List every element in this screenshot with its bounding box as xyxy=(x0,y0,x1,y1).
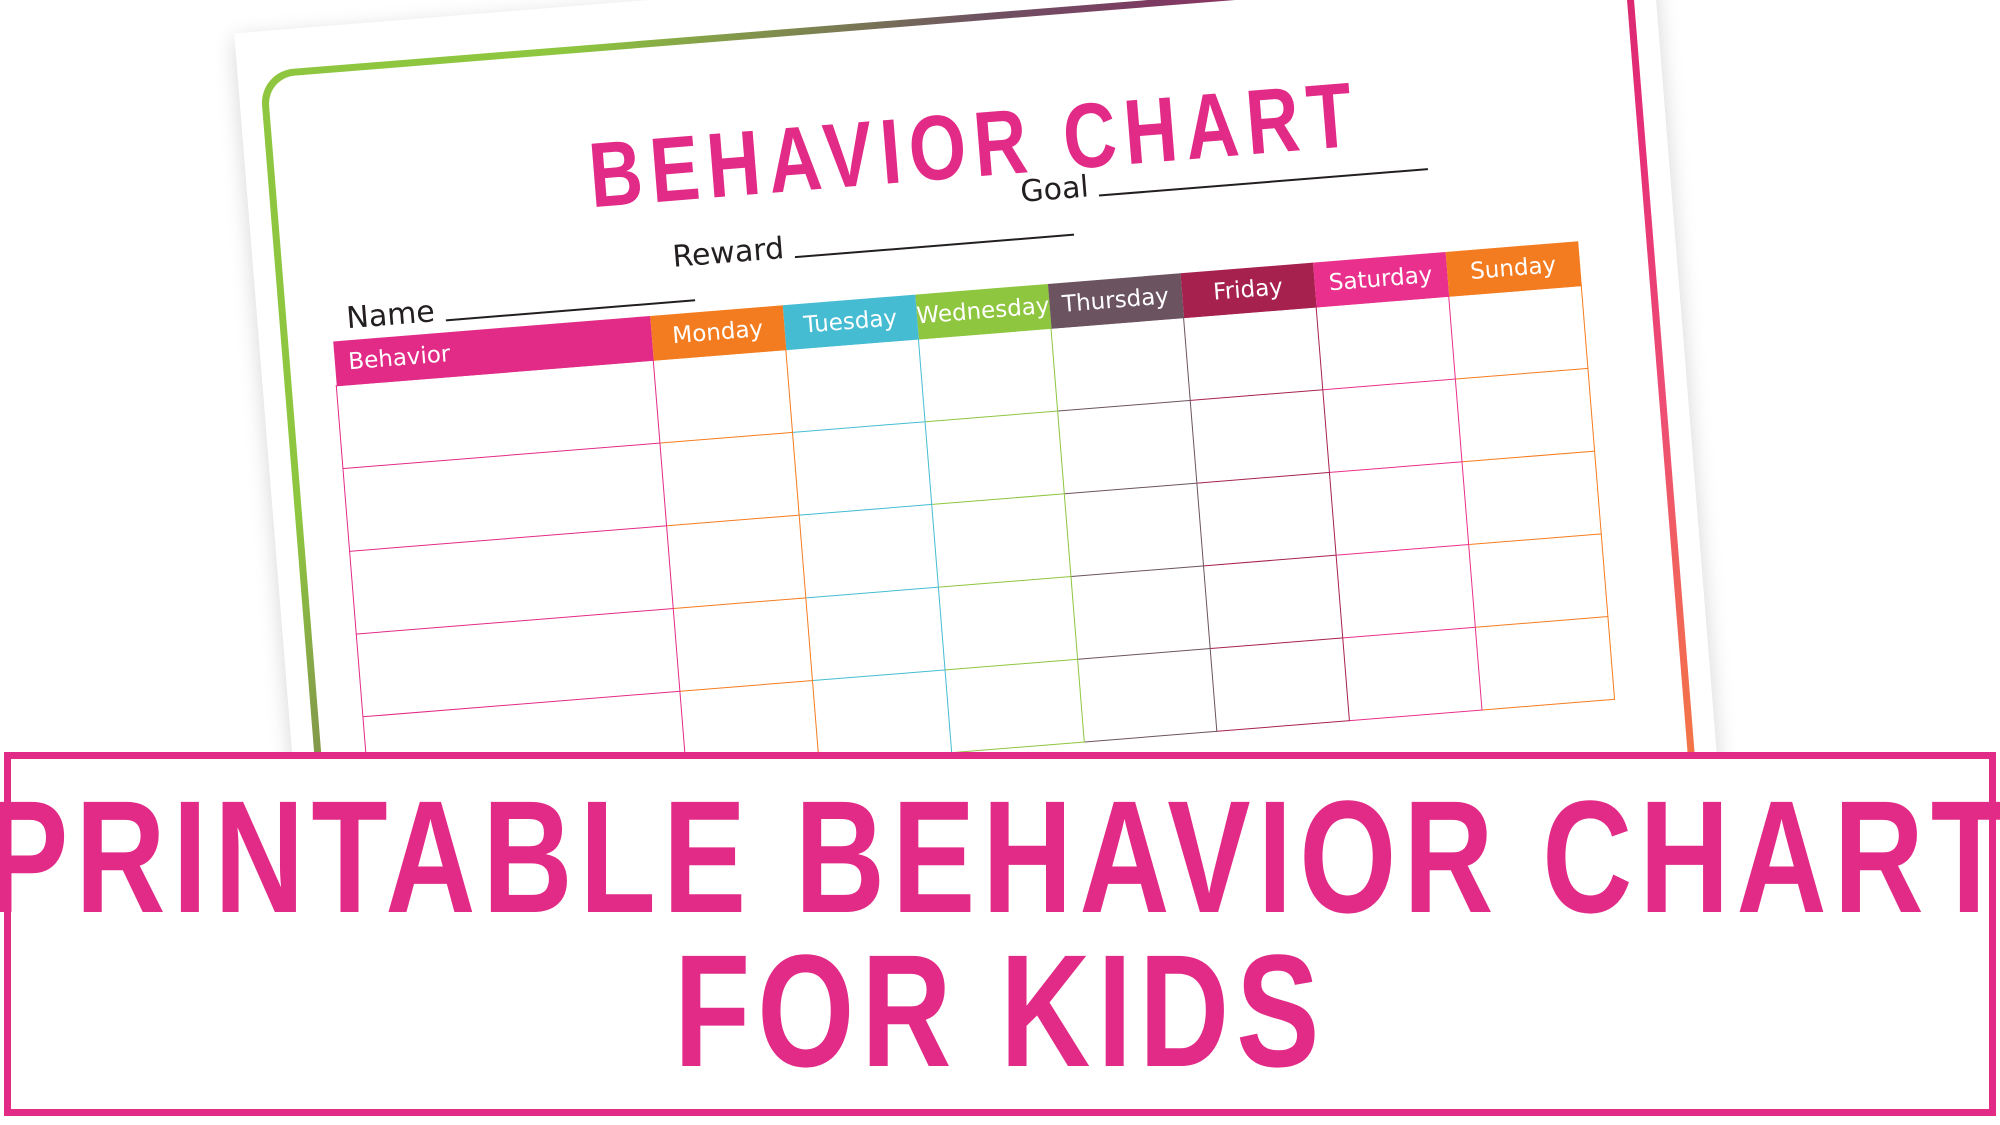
day-cell-saturday[interactable] xyxy=(1343,627,1482,720)
day-cell-monday[interactable] xyxy=(653,350,792,443)
printable-sheet-preview: BEHAVIOR CHART Name Reward Goal xyxy=(0,0,2000,800)
day-cell-monday[interactable] xyxy=(667,515,806,608)
name-field-label: Name xyxy=(345,296,446,334)
day-cell-thursday[interactable] xyxy=(1064,483,1203,576)
day-cell-monday[interactable] xyxy=(673,598,812,691)
day-cell-friday[interactable] xyxy=(1197,472,1336,565)
day-cell-sunday[interactable] xyxy=(1455,368,1594,461)
reward-field-rule xyxy=(795,234,1074,258)
day-cell-thursday[interactable] xyxy=(1078,649,1217,742)
paper-inner-surface: BEHAVIOR CHART Name Reward Goal xyxy=(267,0,1691,800)
day-cell-tuesday[interactable] xyxy=(792,422,931,515)
page-title: BEHAVIOR CHART xyxy=(524,64,1424,228)
day-cell-thursday[interactable] xyxy=(1051,318,1190,411)
goal-field-label: Goal xyxy=(1019,172,1099,208)
day-cell-tuesday[interactable] xyxy=(806,587,945,680)
printable-paper: BEHAVIOR CHART Name Reward Goal xyxy=(234,0,1722,800)
day-cell-saturday[interactable] xyxy=(1323,379,1462,472)
day-cell-tuesday[interactable] xyxy=(799,504,938,597)
reward-field-label: Reward xyxy=(671,233,795,273)
day-cell-wednesday[interactable] xyxy=(918,328,1057,421)
day-cell-monday[interactable] xyxy=(660,432,799,525)
day-cell-thursday[interactable] xyxy=(1071,566,1210,659)
day-cell-sunday[interactable] xyxy=(1469,534,1608,627)
reward-field[interactable]: Reward xyxy=(671,211,1074,273)
paper-gradient-frame: BEHAVIOR CHART Name Reward Goal xyxy=(259,0,1698,800)
day-cell-wednesday[interactable] xyxy=(938,577,1077,670)
day-cell-friday[interactable] xyxy=(1204,555,1343,648)
day-cell-sunday[interactable] xyxy=(1449,286,1588,379)
day-cell-sunday[interactable] xyxy=(1475,617,1614,710)
day-cell-friday[interactable] xyxy=(1210,638,1349,731)
day-cell-friday[interactable] xyxy=(1190,390,1329,483)
day-cell-wednesday[interactable] xyxy=(925,411,1064,504)
day-cell-friday[interactable] xyxy=(1184,307,1323,400)
day-cell-saturday[interactable] xyxy=(1316,296,1455,389)
day-cell-sunday[interactable] xyxy=(1462,451,1601,544)
goal-field-rule xyxy=(1099,168,1428,196)
day-cell-tuesday[interactable] xyxy=(812,670,951,763)
day-cell-wednesday[interactable] xyxy=(932,494,1071,587)
day-cell-wednesday[interactable] xyxy=(945,659,1084,752)
day-cell-tuesday[interactable] xyxy=(786,339,925,432)
behavior-table: BehaviorMondayTuesdayWednesdayThursdayFr… xyxy=(332,241,1615,800)
day-cell-saturday[interactable] xyxy=(1329,462,1468,555)
article-title-banner: PRINTABLE BEHAVIOR CHART FOR KIDS xyxy=(4,752,1996,1116)
banner-title-line-2: FOR KIDS xyxy=(674,935,1326,1087)
day-cell-saturday[interactable] xyxy=(1336,545,1475,638)
banner-title-line-1: PRINTABLE BEHAVIOR CHART xyxy=(0,781,2000,933)
day-cell-thursday[interactable] xyxy=(1058,400,1197,493)
